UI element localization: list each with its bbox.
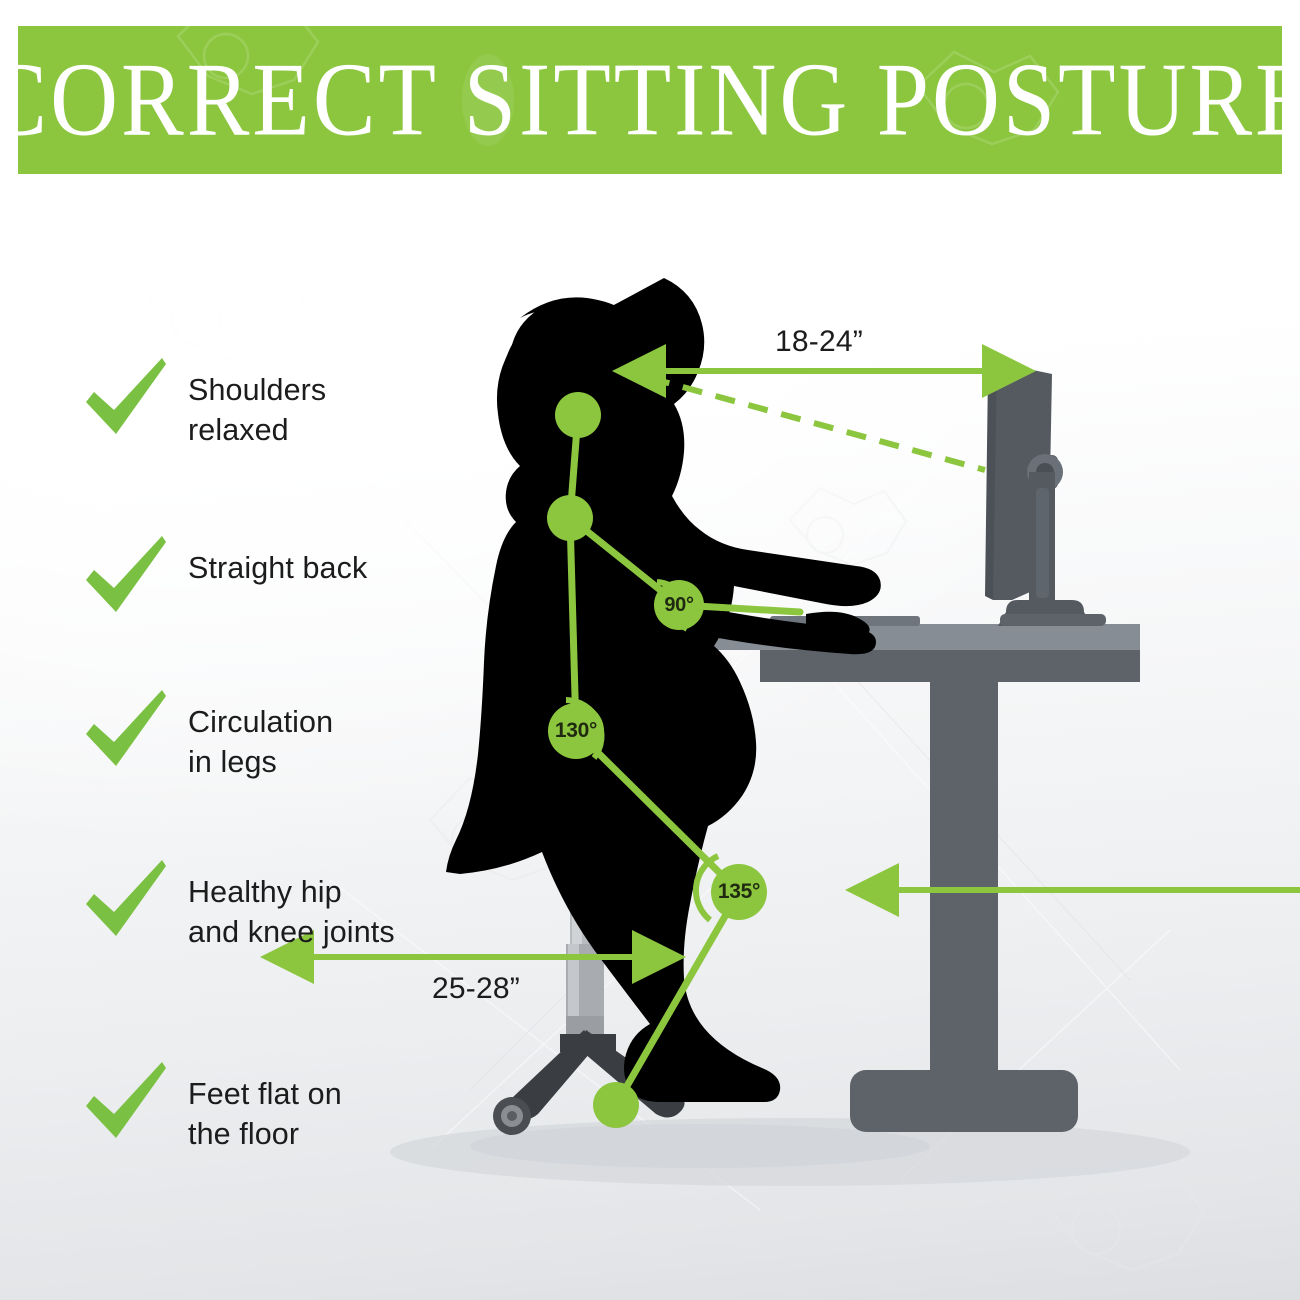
checklist-label: Shoulders relaxed [172, 362, 326, 451]
angle-badge-knee: 135° [711, 864, 767, 920]
checklist-label: Feet flat on the floor [172, 1066, 342, 1155]
checklist-item-joints[interactable]: Healthy hip and knee joints [80, 864, 395, 953]
joint-ankle [593, 1082, 639, 1128]
monitor [985, 362, 1106, 626]
joint-shoulder [547, 495, 593, 541]
checklist-item-feet[interactable]: Feet flat on the floor [80, 1066, 342, 1155]
check-icon [80, 358, 172, 442]
check-icon [80, 690, 172, 774]
sight-line [650, 378, 985, 470]
checklist-label: Straight back [172, 540, 367, 588]
infographic-poster: CORRECT SITTING POSTURE [0, 0, 1300, 1300]
checklist-label: Healthy hip and knee joints [172, 864, 395, 953]
measurement-label-desk-height: 25-28” [432, 972, 520, 1006]
joint-neck [555, 392, 601, 438]
checklist-label: Circulation in legs [172, 694, 333, 783]
check-icon [80, 536, 172, 620]
checklist-item-back[interactable]: Straight back [80, 540, 367, 620]
measurement-label-monitor-distance: 18-24” [775, 325, 863, 359]
check-icon [80, 1062, 172, 1146]
check-icon [80, 860, 172, 944]
angle-badge-elbow: 90° [654, 580, 704, 630]
checklist-item-legs[interactable]: Circulation in legs [80, 694, 333, 783]
angle-badge-hip: 130° [548, 703, 604, 759]
checklist-item-shoulders[interactable]: Shoulders relaxed [80, 362, 326, 451]
